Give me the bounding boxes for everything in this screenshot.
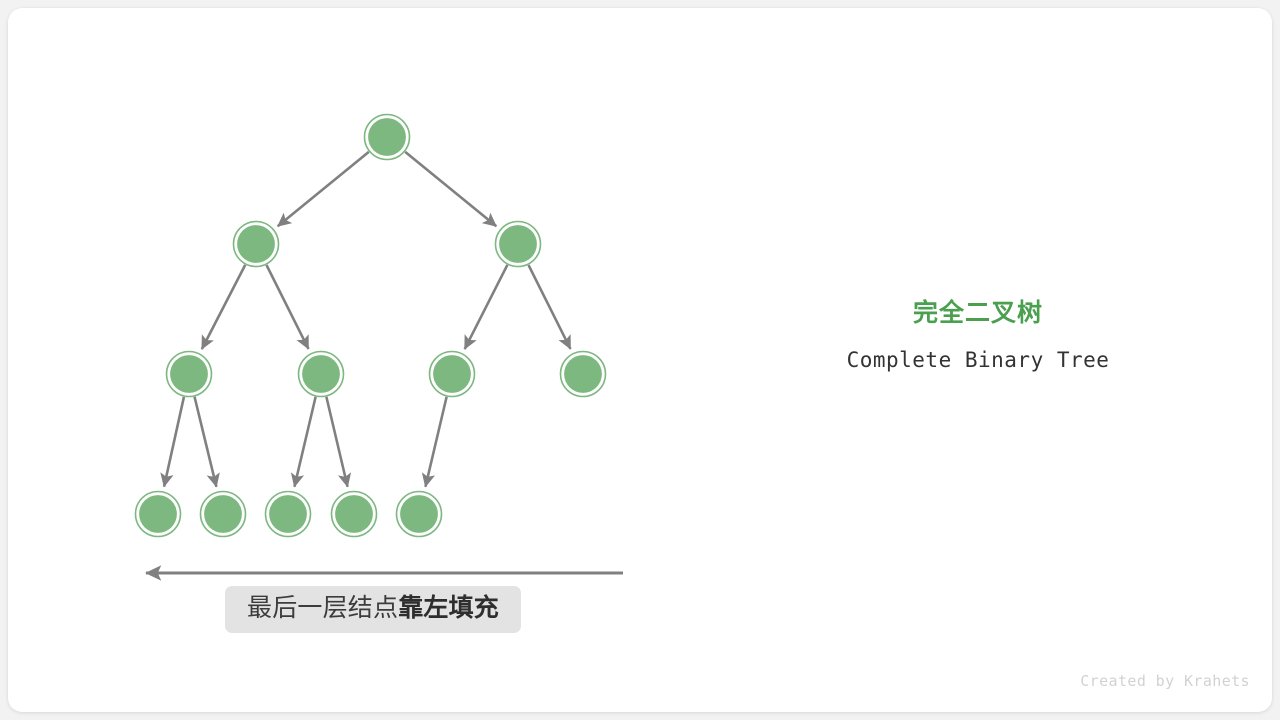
screenshot-stage: 最后一层结点靠左填充 完全二叉树 Complete Binary Tree Cr…	[0, 0, 1280, 720]
tree-node[interactable]	[365, 115, 410, 160]
tree-node[interactable]	[397, 492, 442, 537]
tree-edge	[326, 397, 347, 487]
last-level-caption: 最后一层结点靠左填充	[225, 586, 521, 633]
tree-node[interactable]	[332, 492, 377, 537]
tree-node[interactable]	[430, 352, 475, 397]
tree-node-fill	[368, 118, 406, 156]
illustration-card: 最后一层结点靠左填充 完全二叉树 Complete Binary Tree Cr…	[8, 8, 1272, 712]
tree-node[interactable]	[299, 352, 344, 397]
tree-node[interactable]	[496, 222, 541, 267]
tree-edge-layer	[164, 152, 570, 487]
tree-node-fill	[433, 355, 471, 393]
caption-normal-text: 最后一层结点	[247, 594, 398, 622]
tree-edge	[425, 397, 446, 487]
tree-edge	[294, 397, 315, 487]
title-block: 完全二叉树 Complete Binary Tree	[768, 298, 1188, 373]
tree-node[interactable]	[266, 492, 311, 537]
tree-node[interactable]	[201, 492, 246, 537]
credit-text: Created by Krahets	[1080, 672, 1250, 690]
tree-edge	[278, 152, 369, 226]
tree-node-fill	[499, 225, 537, 263]
tree-edge	[529, 265, 571, 349]
tree-edge	[267, 265, 309, 349]
tree-node-layer	[136, 115, 606, 537]
tree-edge	[164, 397, 184, 487]
tree-node[interactable]	[136, 492, 181, 537]
tree-edge	[465, 265, 508, 349]
tree-edge	[405, 152, 496, 226]
tree-node-fill	[564, 355, 602, 393]
tree-node-fill	[139, 495, 177, 533]
tree-node-fill	[302, 355, 340, 393]
tree-edge	[202, 265, 245, 349]
tree-node-fill	[335, 495, 373, 533]
title-english: Complete Binary Tree	[768, 348, 1188, 373]
tree-node[interactable]	[234, 222, 279, 267]
tree-node[interactable]	[167, 352, 212, 397]
tree-node-fill	[204, 495, 242, 533]
tree-node-fill	[269, 495, 307, 533]
caption-bold-text: 靠左填充	[398, 594, 499, 622]
tree-node-fill	[237, 225, 275, 263]
tree-edge	[195, 397, 217, 487]
tree-node-fill	[170, 355, 208, 393]
tree-node[interactable]	[561, 352, 606, 397]
tree-node-fill	[400, 495, 438, 533]
title-chinese: 完全二叉树	[768, 298, 1188, 328]
